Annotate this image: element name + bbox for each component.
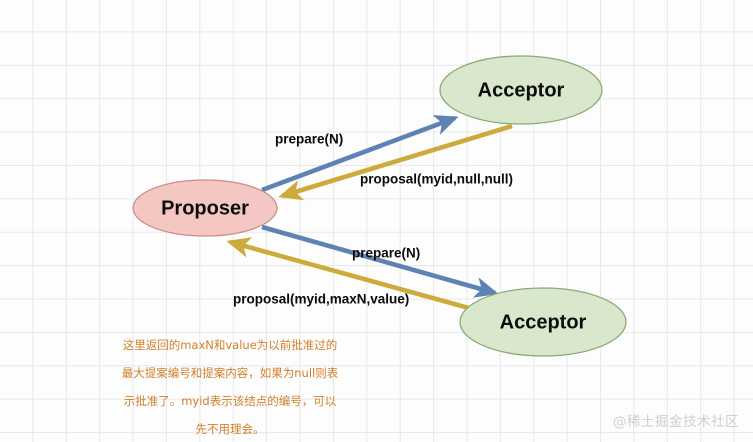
annotation-line-1: 这里返回的maxN和value为以前批准过的 [112, 338, 348, 352]
diagram-canvas: prepare(N) proposal(myid,null,null) prep… [0, 0, 753, 442]
annotation-note: 这里返回的maxN和value为以前批准过的 最大提案编号和提案内容，如果为nu… [112, 324, 348, 442]
node-acceptor-bottom-label: Acceptor [500, 311, 587, 333]
node-acceptor-top[interactable]: Acceptor [440, 56, 602, 124]
edge-label-prepare-top: prepare(N) [275, 132, 343, 147]
edge-label-proposal-bottom: proposal(myid,maxN,value) [233, 292, 409, 307]
edge-label-prepare-bottom: prepare(N) [352, 246, 420, 261]
node-acceptor-top-label: Acceptor [478, 79, 565, 101]
node-proposer-label: Proposer [161, 197, 249, 219]
edge-label-proposal-top: proposal(myid,null,null) [360, 172, 513, 187]
watermark: @稀土掘金技术社区 [613, 410, 739, 430]
node-acceptor-bottom[interactable]: Acceptor [460, 288, 626, 356]
annotation-line-4: 先不用理会。 [112, 422, 348, 436]
node-proposer[interactable]: Proposer [133, 180, 277, 236]
annotation-line-3: 示批准了。myid表示该结点的编号，可以 [112, 394, 348, 408]
annotation-line-2: 最大提案编号和提案内容，如果为null则表 [112, 366, 348, 380]
